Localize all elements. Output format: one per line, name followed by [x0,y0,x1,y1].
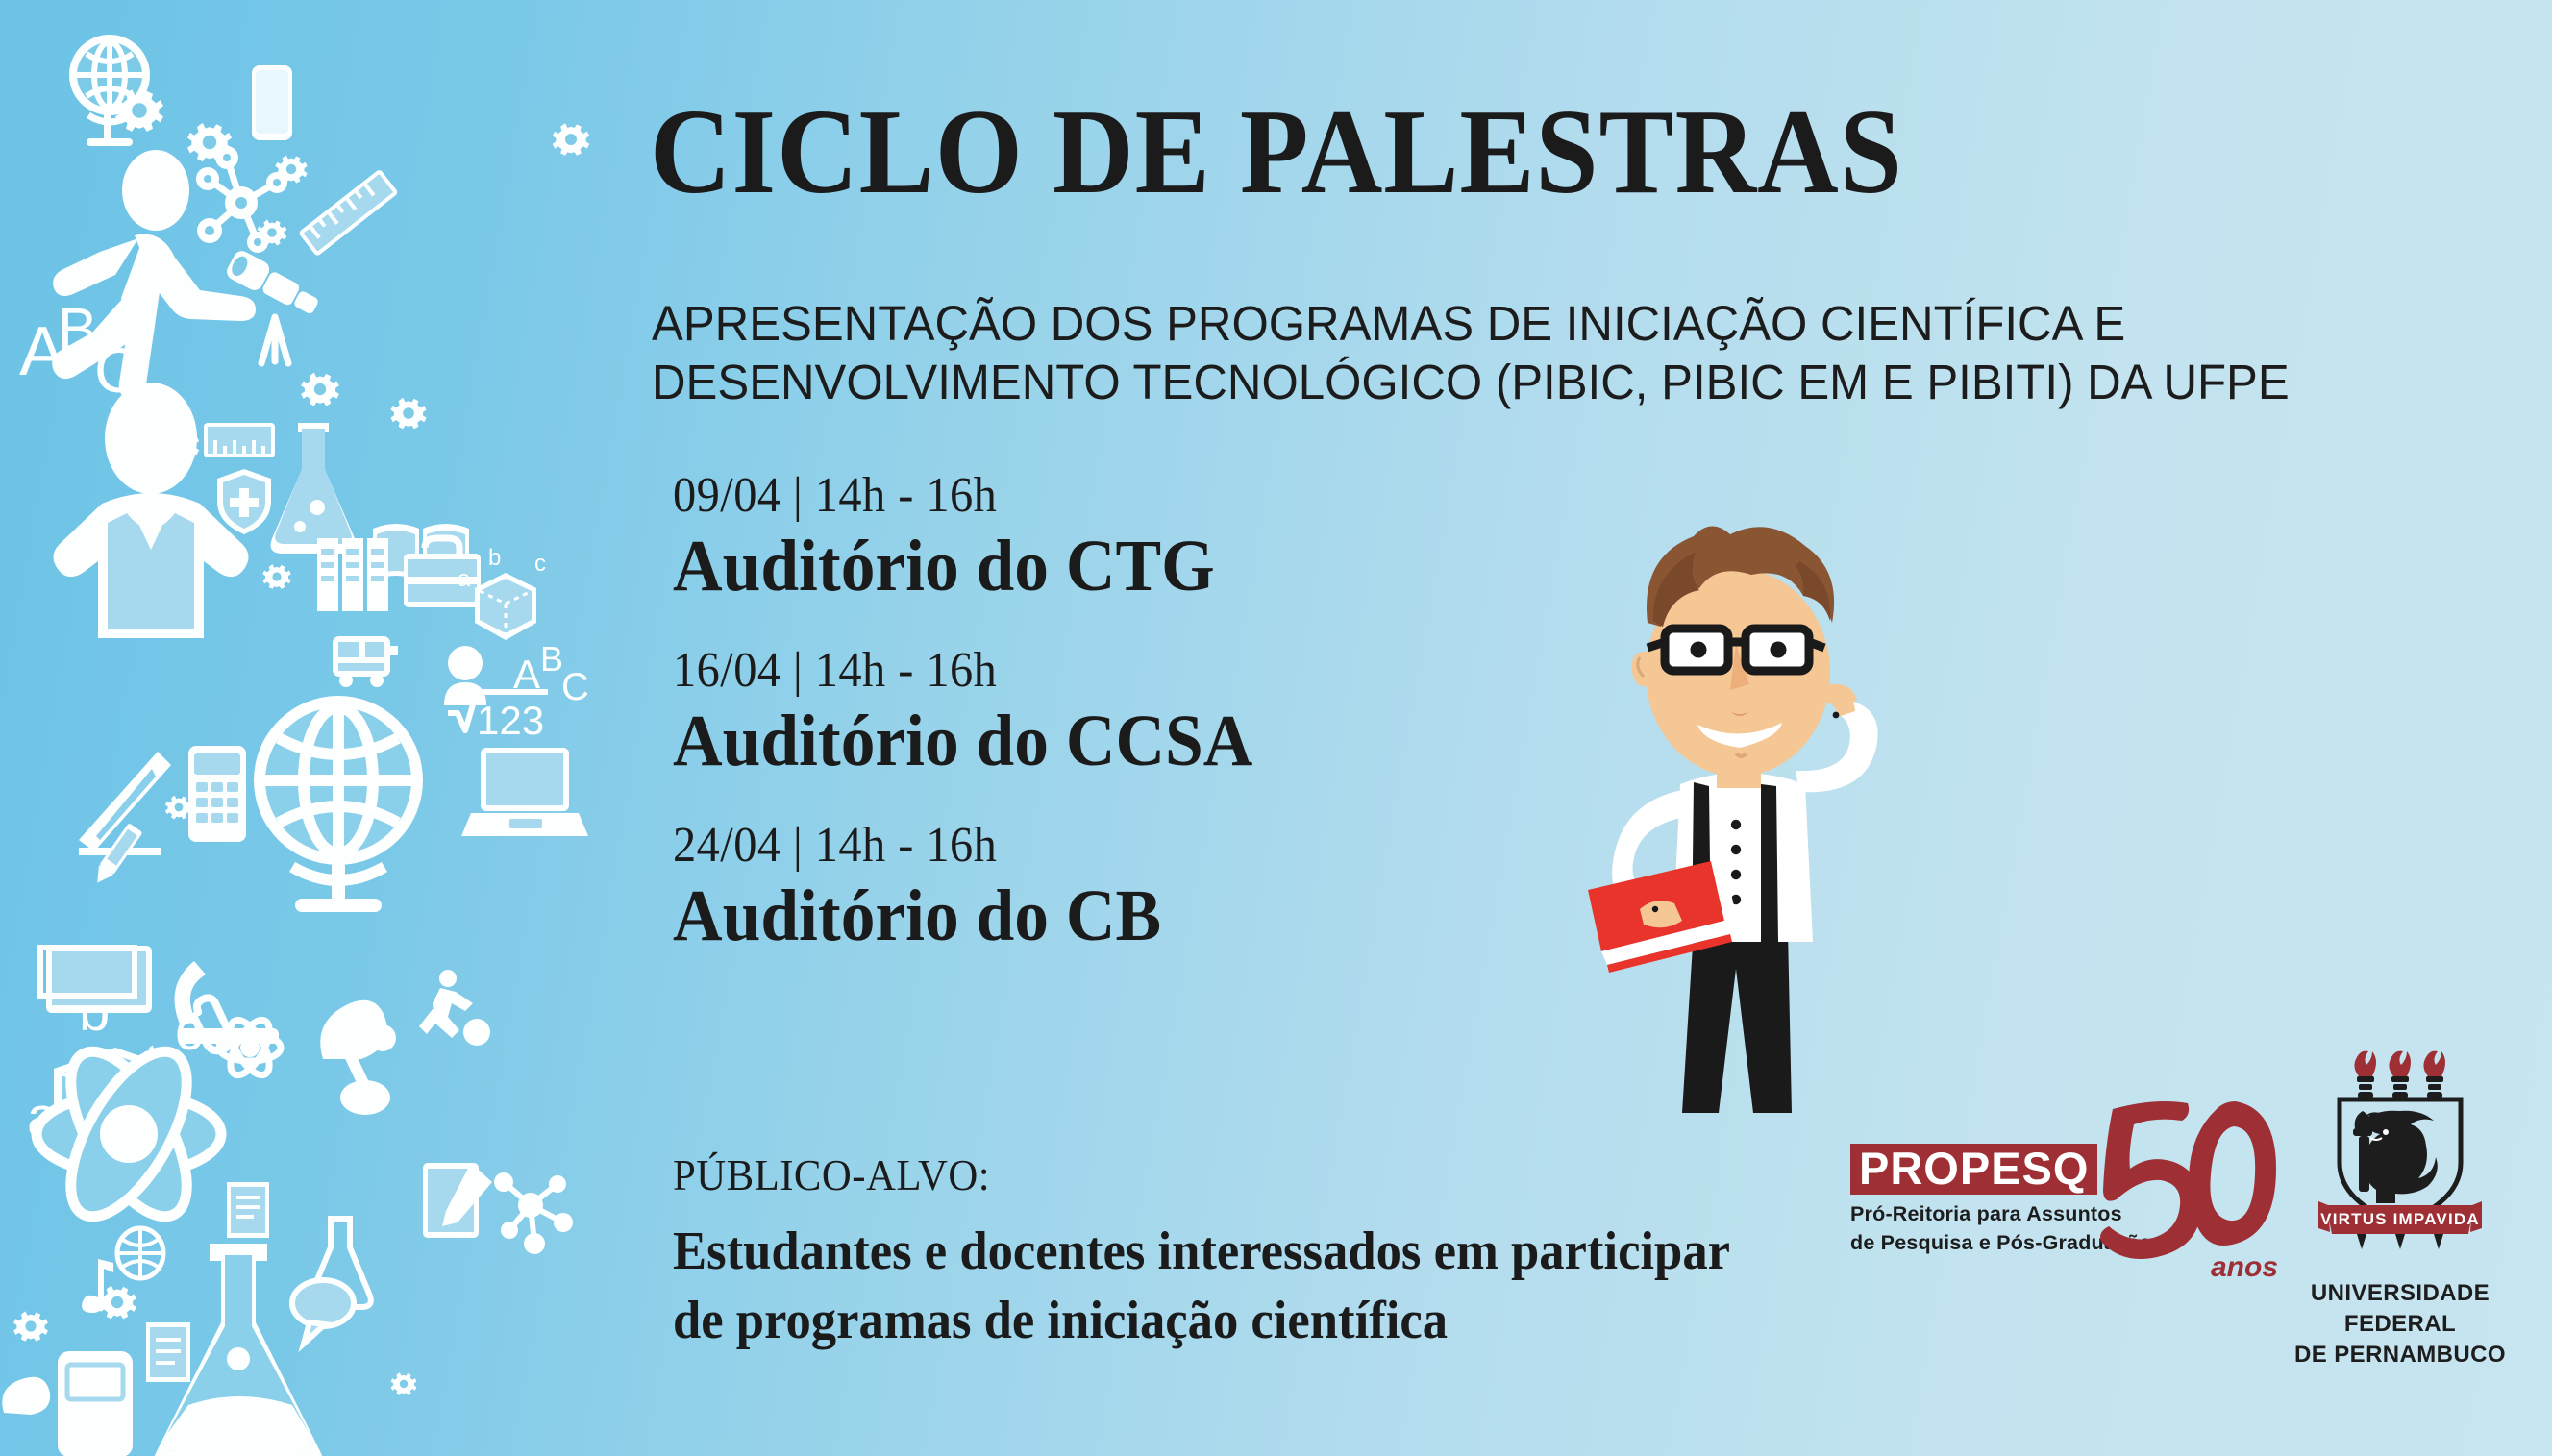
propesq-50-anos-mark: anos [2095,1098,2278,1290]
character-legs [1682,930,1792,1113]
event-item: 24/04 | 14h - 16h Auditório do CB [673,817,1290,957]
gear-icon [13,1311,48,1341]
propesq-anos-label: anos [2211,1251,2278,1283]
ruler-icon [298,169,399,258]
tripod-icon [261,317,288,363]
ufpe-motto: VIRTUS IMPAVIDA [2320,1210,2480,1228]
globe-icon [117,1228,163,1278]
ufpe-name-line-2: FEDERAL [2280,1309,2520,1340]
svg-text:c: c [534,551,546,577]
school-bus-icon [333,636,398,687]
gear-icon [301,373,339,407]
molecule-icon [494,1172,573,1254]
svg-text:123: 123 [477,698,544,743]
gear-icon [391,1372,417,1395]
poster-canvas: A B C [0,0,2552,1456]
propesq-wordmark: PROPESQ [1850,1144,2097,1195]
clipboard-check-icon [423,1163,492,1238]
soccer-player-icon [419,970,490,1046]
svg-text:C: C [561,666,589,708]
audience-text: Estudantes e docentes interessados em pa… [673,1218,1730,1355]
page-title: CICLO DE PALESTRAS [650,92,1903,213]
satellite-dish-icon [320,1000,396,1115]
character-head [1632,526,1834,777]
subtitle: APRESENTAÇÃO DOS PROGRAMAS DE INICIAÇÃO … [652,294,2441,411]
ruler-icon [204,423,275,457]
gear-icon [262,564,290,589]
cartoon-scientist-illustration [1548,507,1980,1132]
event-venue: Auditório do CB [673,876,1252,957]
ufpe-name: UNIVERSIDADE FEDERAL DE PERNAMBUCO [2280,1278,2520,1370]
document-icon [227,1182,269,1238]
subtitle-line-1: APRESENTAÇÃO DOS PROGRAMAS DE INICIAÇÃO … [652,294,2441,353]
gear-icon [165,796,192,820]
audience-line-2: de programas de iniciação científica [673,1287,1730,1356]
event-datetime: 09/04 | 14h - 16h [673,467,1247,524]
ufpe-crest-icon: VIRTUS IMPAVIDA [2318,1049,2482,1271]
books-icon [317,538,388,611]
gear-icon [553,123,589,156]
event-item: 16/04 | 14h - 16h Auditório do CCSA [673,642,1290,782]
lion-icon [2353,1111,2438,1203]
monitor-icon [58,1351,133,1456]
audience-line-1: Estudantes e docentes interessados em pa… [673,1218,1730,1287]
gear-icon [390,398,426,429]
calculator-icon [188,746,246,842]
atom-icon [37,1034,221,1234]
svg-text:a: a [458,566,471,592]
event-item: 09/04 | 14h - 16h Auditório do CTG [673,467,1290,607]
document-icon [146,1322,190,1382]
svg-text:B: B [540,639,563,679]
event-venue: Auditório do CTG [673,526,1252,607]
ufpe-name-line-1: UNIVERSIDADE [2280,1278,2520,1309]
ufpe-name-line-3: DE PERNAMBUCO [2280,1340,2520,1370]
flask-icon [271,423,357,554]
event-list: 09/04 | 14h - 16h Auditório do CTG 16/04… [673,467,1290,992]
svg-text:b: b [488,545,501,571]
target-audience-block: PÚBLICO-ALVO: Estudantes e docentes inte… [673,1149,1797,1355]
event-datetime: 16/04 | 14h - 16h [673,642,1247,699]
virtus-banner: VIRTUS IMPAVIDA [2318,1201,2482,1249]
subtitle-line-2: DESENVOLVIMENTO TECNOLÓGICO (PIBIC, PIBI… [652,353,2441,411]
gear-icon [98,1286,136,1320]
laptop-icon [461,748,588,836]
svg-text:B: B [58,297,97,363]
satellite-dish-icon [2,1377,50,1415]
ufpe-logo: VIRTUS IMPAVIDA UNIVERSIDADE FEDERAL DE … [2280,1049,2520,1434]
event-datetime: 24/04 | 14h - 16h [673,817,1247,874]
audience-heading: PÚBLICO-ALVO: [673,1149,1719,1200]
globe-stand-icon [254,696,423,905]
medical-shield-icon [217,469,271,534]
event-venue: Auditório do CCSA [673,701,1252,782]
speech-bubble-icon [292,1280,354,1344]
science-icon-collage: A B C [0,0,596,1456]
user-icon [444,646,486,705]
smartphone-icon [252,65,292,140]
